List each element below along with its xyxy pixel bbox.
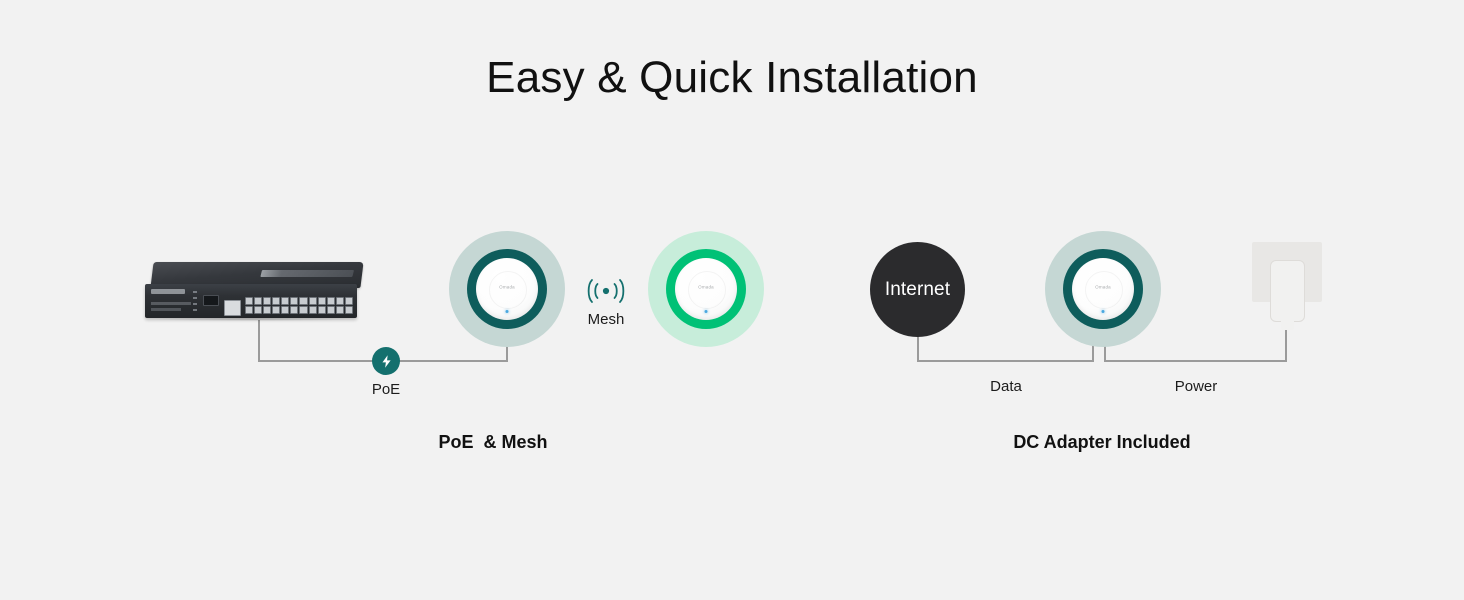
- ap-logo: Omada: [499, 284, 515, 289]
- switch-ethernet-ports: [245, 297, 353, 315]
- switch-management-port: [224, 300, 241, 316]
- switch-front-brand: [151, 289, 185, 294]
- mesh-label: Mesh: [588, 311, 625, 328]
- left-scene-caption: PoE & Mesh: [393, 432, 593, 453]
- wall-outlet-adapter: [1252, 242, 1322, 330]
- switch-front-panel: [145, 284, 357, 318]
- cable-power-right-vertical: [1285, 326, 1287, 362]
- cable-power-horizontal: [1104, 360, 1287, 362]
- poe-indicator: PoE: [362, 347, 410, 398]
- switch-brand-logo: [261, 270, 355, 277]
- switch-console-port: [203, 295, 219, 306]
- access-point-dc: Omada: [1045, 231, 1161, 347]
- cable-switch-vertical: [258, 320, 260, 362]
- switch-shadow: [148, 317, 354, 321]
- installation-diagram: Omada Mesh Omada: [0, 0, 1464, 600]
- mesh-wireless-icon: [575, 276, 637, 311]
- internet-bubble: Internet: [870, 242, 965, 337]
- power-label: Power: [1146, 378, 1246, 395]
- ap-led-indicator: [506, 310, 509, 313]
- ap-logo: Omada: [1095, 284, 1111, 289]
- access-point-primary: Omada: [449, 231, 565, 347]
- data-label: Data: [956, 378, 1056, 395]
- dc-adapter-body: [1270, 260, 1305, 322]
- ap-body: Omada: [1072, 258, 1134, 320]
- ap-body: Omada: [476, 258, 538, 320]
- ap-led-indicator: [1102, 310, 1105, 313]
- ap-logo: Omada: [698, 284, 714, 289]
- lightning-bolt-icon: [372, 347, 400, 375]
- mesh-indicator: Mesh: [575, 276, 637, 329]
- cable-data-horizontal: [917, 360, 1094, 362]
- poe-switch: [140, 262, 362, 320]
- internet-label: Internet: [885, 279, 950, 301]
- poe-label: PoE: [362, 381, 410, 398]
- access-point-mesh: Omada: [648, 231, 764, 347]
- switch-model-text: [151, 302, 191, 305]
- ap-led-indicator: [705, 310, 708, 313]
- switch-model-subtext: [151, 308, 181, 311]
- switch-status-leds: [193, 291, 197, 311]
- ap-body: Omada: [675, 258, 737, 320]
- dc-adapter-cable-neck: [1281, 320, 1294, 330]
- right-scene-caption: DC Adapter Included: [1002, 432, 1202, 453]
